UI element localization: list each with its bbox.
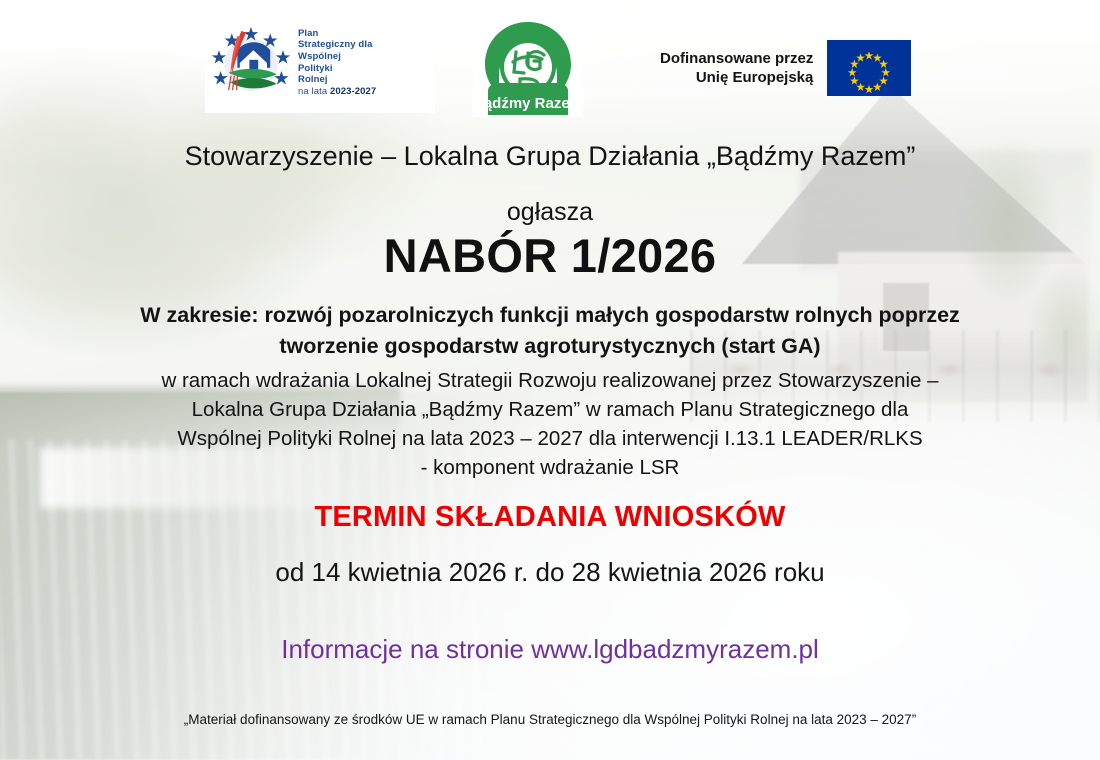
poster: Plan Strategiczny dla Wspólnej Polityki … — [0, 0, 1100, 760]
body-paragraph: w ramach wdrażania Lokalnej Strategii Ro… — [80, 366, 1020, 482]
psp-line-5: Rolnej — [298, 74, 328, 85]
announces-label: ogłasza — [0, 198, 1100, 227]
european-union-flag-icon — [827, 40, 911, 96]
footer-disclaimer: „Materiał dofinansowany ze środków UE w … — [60, 712, 1040, 727]
scope-paragraph: W zakresie: rozwój pozarolniczych funkcj… — [70, 300, 1030, 362]
body-line-2: Lokalna Grupa Działania „Bądźmy Razem” w… — [80, 395, 1020, 424]
logo-lgd-badzmy-razem: Bądźmy Razem — [473, 13, 583, 117]
psp-line-2: Strategiczny dla — [298, 39, 372, 50]
eu-funding-text: Dofinansowane przez Unię Europejską — [660, 49, 813, 87]
logo-strip: Plan Strategiczny dla Wspólnej Polityki … — [0, 0, 1100, 126]
scope-line-2: tworzenie gospodarstw agroturystycznych … — [70, 331, 1030, 362]
body-line-4: - komponent wdrażanie LSR — [80, 453, 1020, 482]
lgd-banner-text: Bądźmy Razem — [476, 95, 580, 112]
info-website-line[interactable]: Informacje na stronie www.lgdbadzmyrazem… — [0, 634, 1100, 665]
psp-line-6-years: 2023-2027 — [330, 86, 376, 97]
psp-line-1: Plan — [298, 28, 318, 39]
body-line-3: Wspólnej Polityki Rolnej na lata 2023 – … — [80, 424, 1020, 453]
plan-strategiczny-wordmark: Plan Strategiczny dla Wspólnej Polityki … — [298, 28, 376, 98]
logo-plan-strategiczny: Plan Strategiczny dla Wspólnej Polityki … — [205, 12, 435, 113]
organization-name: Stowarzyszenie – Lokalna Grupa Działania… — [0, 141, 1100, 172]
psp-line-4: Polityki — [298, 63, 333, 74]
body-line-1: w ramach wdrażania Lokalnej Strategii Ro… — [80, 366, 1020, 395]
eu-stars-icon — [827, 40, 911, 96]
eu-funding-block: Dofinansowane przez Unię Europejską — [660, 40, 911, 96]
psp-line-3: Wspólnej — [298, 51, 341, 62]
psp-line-6-prefix: na lata — [298, 86, 330, 97]
plan-strategiczny-emblem-icon — [211, 23, 291, 103]
deadline-dates: od 14 kwietnia 2026 r. do 28 kwietnia 20… — [0, 557, 1100, 588]
call-title: NABÓR 1/2026 — [0, 228, 1100, 283]
scope-line-1: W zakresie: rozwój pozarolniczych funkcj… — [70, 300, 1030, 331]
lgd-emblem-icon: Bądźmy Razem — [476, 15, 580, 115]
deadline-heading: TERMIN SKŁADANIA WNIOSKÓW — [0, 501, 1100, 534]
